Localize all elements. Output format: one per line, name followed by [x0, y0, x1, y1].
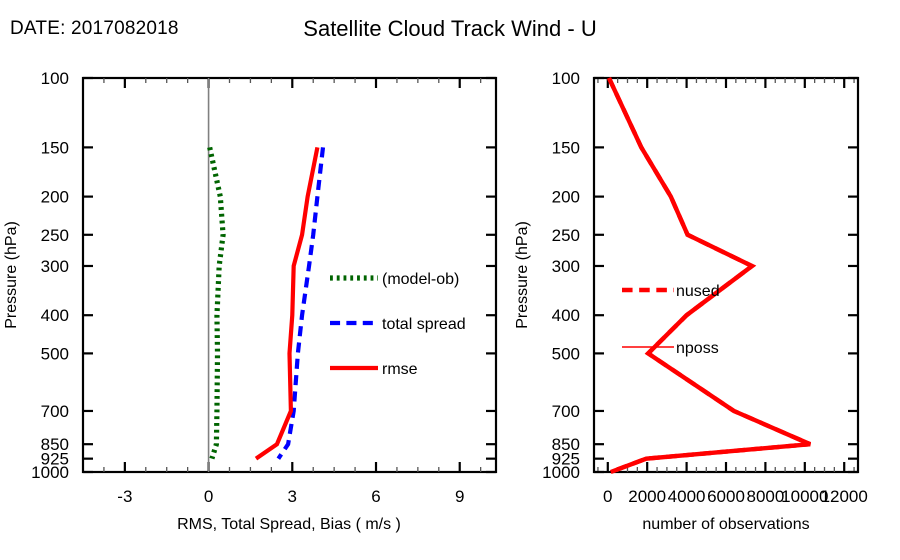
x-tick-label: 6	[371, 487, 380, 506]
y-tick-label: 200	[41, 188, 69, 207]
y-tick-label: 150	[552, 138, 580, 157]
right-panel-group: 1001502002503004005007008509251000020004…	[514, 69, 868, 533]
y-tick-label: 150	[41, 138, 69, 157]
series-line	[256, 147, 317, 458]
y-tick-label: 500	[41, 344, 69, 363]
right-panel-legend: nusednposs	[622, 283, 720, 357]
y-tick-label: 1000	[542, 463, 580, 482]
y-tick-label: 400	[552, 306, 580, 325]
right-panel-x-axis-title: number of observations	[642, 516, 809, 533]
x-tick-label: 0	[603, 487, 612, 506]
right-panel-axes	[594, 78, 858, 472]
right-panel-series	[609, 78, 810, 472]
x-tick-label: 3	[288, 487, 297, 506]
series-line	[609, 78, 810, 472]
series-line	[210, 147, 223, 458]
x-tick-label: 6000	[707, 487, 745, 506]
y-tick-label: 1000	[31, 463, 69, 482]
series-line	[609, 78, 810, 472]
left-panel-x-axis-title: RMS, Total Spread, Bias ( m/s )	[177, 516, 401, 533]
left-panel-y-axis-title: Pressure (hPa)	[3, 221, 20, 329]
left-panel-legend: (model-ob)total spreadrmse	[330, 271, 466, 378]
y-tick-label: 500	[552, 344, 580, 363]
y-tick-label: 300	[41, 257, 69, 276]
figure-canvas: DATE: 2017082018 Satellite Cloud Track W…	[0, 0, 900, 560]
y-tick-label: 300	[552, 257, 580, 276]
x-tick-label: 9	[455, 487, 464, 506]
legend-label: nposs	[676, 340, 719, 357]
charts-svg-root: 1001502002503004005007008509251000-30369…	[0, 0, 900, 560]
y-tick-label: 250	[552, 226, 580, 245]
x-tick-label: 4000	[668, 487, 706, 506]
y-tick-label: 700	[552, 402, 580, 421]
y-tick-label: 100	[552, 69, 580, 88]
legend-label: (model-ob)	[382, 271, 459, 288]
y-tick-label: 700	[41, 402, 69, 421]
series-line	[278, 147, 323, 458]
legend-label: total spread	[382, 316, 466, 333]
left-panel-group: 1001502002503004005007008509251000-30369…	[3, 69, 496, 533]
x-tick-label: -3	[117, 487, 132, 506]
legend-label: rmse	[382, 361, 418, 378]
x-tick-label: 0	[204, 487, 213, 506]
x-tick-label: 2000	[628, 487, 666, 506]
left-panel-series	[210, 147, 323, 458]
x-tick-label: 12000	[821, 487, 868, 506]
y-tick-label: 250	[41, 226, 69, 245]
y-tick-label: 400	[41, 306, 69, 325]
y-tick-label: 200	[552, 188, 580, 207]
y-tick-label: 100	[41, 69, 69, 88]
legend-label: nused	[676, 283, 720, 300]
x-tick-label: 8000	[746, 487, 784, 506]
right-panel-y-axis-title: Pressure (hPa)	[514, 221, 531, 329]
